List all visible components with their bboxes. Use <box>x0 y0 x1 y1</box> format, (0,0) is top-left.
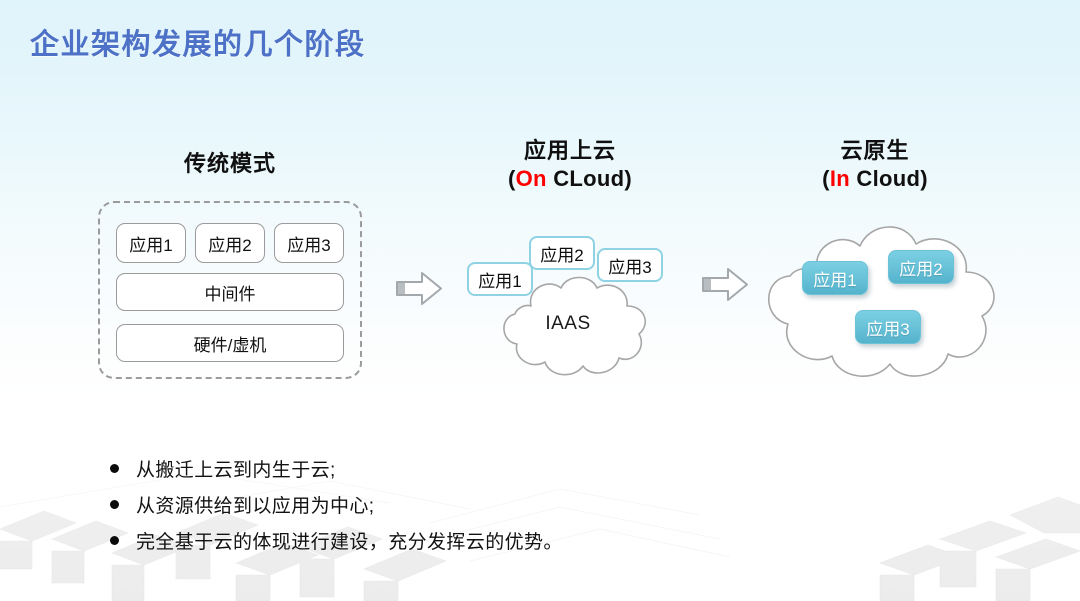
oncloud-en-highlight: On <box>516 166 547 191</box>
arrow-right-icon <box>702 268 748 301</box>
traditional-app-2[interactable]: 应用2 <box>195 223 265 263</box>
traditional-layer-middleware[interactable]: 中间件 <box>116 273 344 311</box>
oncloud-en-rest: CLoud) <box>547 166 632 191</box>
slide-canvas: 企业架构发展的几个阶段 传统模式 应用1 应用2 应用3 中间件 硬件/虚机 应… <box>0 0 1080 601</box>
stage-heading-oncloud: 应用上云 (On CLoud) <box>470 137 670 193</box>
cloud-label-iaas: IAAS <box>527 313 609 335</box>
arrow-right-icon <box>396 272 442 305</box>
cloudnative-app-3[interactable]: 应用3 <box>855 310 921 344</box>
bullet-dot-icon <box>110 500 119 509</box>
bullet-list: 从搬迁上云到内生于云; 从资源供给到以应用为中心; 完全基于云的体现进行建设，充… <box>110 455 750 563</box>
traditional-layer-hardware[interactable]: 硬件/虚机 <box>116 324 344 362</box>
stage-heading-cloudnative-cn: 云原生 <box>775 137 975 165</box>
cloudnative-en-rest: Cloud) <box>850 166 928 191</box>
cloudnative-app-1[interactable]: 应用1 <box>802 261 868 295</box>
oncloud-app-1[interactable]: 应用1 <box>467 262 533 296</box>
traditional-app-3[interactable]: 应用3 <box>274 223 344 263</box>
stage-heading-oncloud-cn: 应用上云 <box>470 137 670 165</box>
traditional-app-1[interactable]: 应用1 <box>116 223 186 263</box>
oncloud-app-3[interactable]: 应用3 <box>597 248 663 282</box>
stage-heading-traditional: 传统模式 <box>130 150 330 178</box>
cloudnative-en-prefix: ( <box>822 166 830 191</box>
list-item: 从搬迁上云到内生于云; <box>110 455 750 482</box>
cloudnative-en-highlight: In <box>830 166 850 191</box>
stage-heading-oncloud-en: (On CLoud) <box>470 165 670 193</box>
list-item: 从资源供给到以应用为中心; <box>110 491 750 518</box>
oncloud-app-2[interactable]: 应用2 <box>529 236 595 270</box>
bullet-dot-icon <box>110 536 119 545</box>
cloudnative-app-2[interactable]: 应用2 <box>888 250 954 284</box>
page-title: 企业架构发展的几个阶段 <box>30 21 366 63</box>
bullet-text-3: 完全基于云的体现进行建设，充分发挥云的优势。 <box>136 527 563 554</box>
stage-heading-cloudnative-en: (In Cloud) <box>775 165 975 193</box>
bullet-text-1: 从搬迁上云到内生于云; <box>136 455 336 482</box>
stage-heading-traditional-cn: 传统模式 <box>130 150 330 178</box>
bullet-text-2: 从资源供给到以应用为中心; <box>136 491 374 518</box>
cloud-shape-cloudnative <box>756 212 1008 384</box>
bullet-dot-icon <box>110 464 119 473</box>
oncloud-en-prefix: ( <box>508 166 516 191</box>
list-item: 完全基于云的体现进行建设，充分发挥云的优势。 <box>110 527 750 554</box>
stage-heading-cloudnative: 云原生 (In Cloud) <box>775 137 975 193</box>
